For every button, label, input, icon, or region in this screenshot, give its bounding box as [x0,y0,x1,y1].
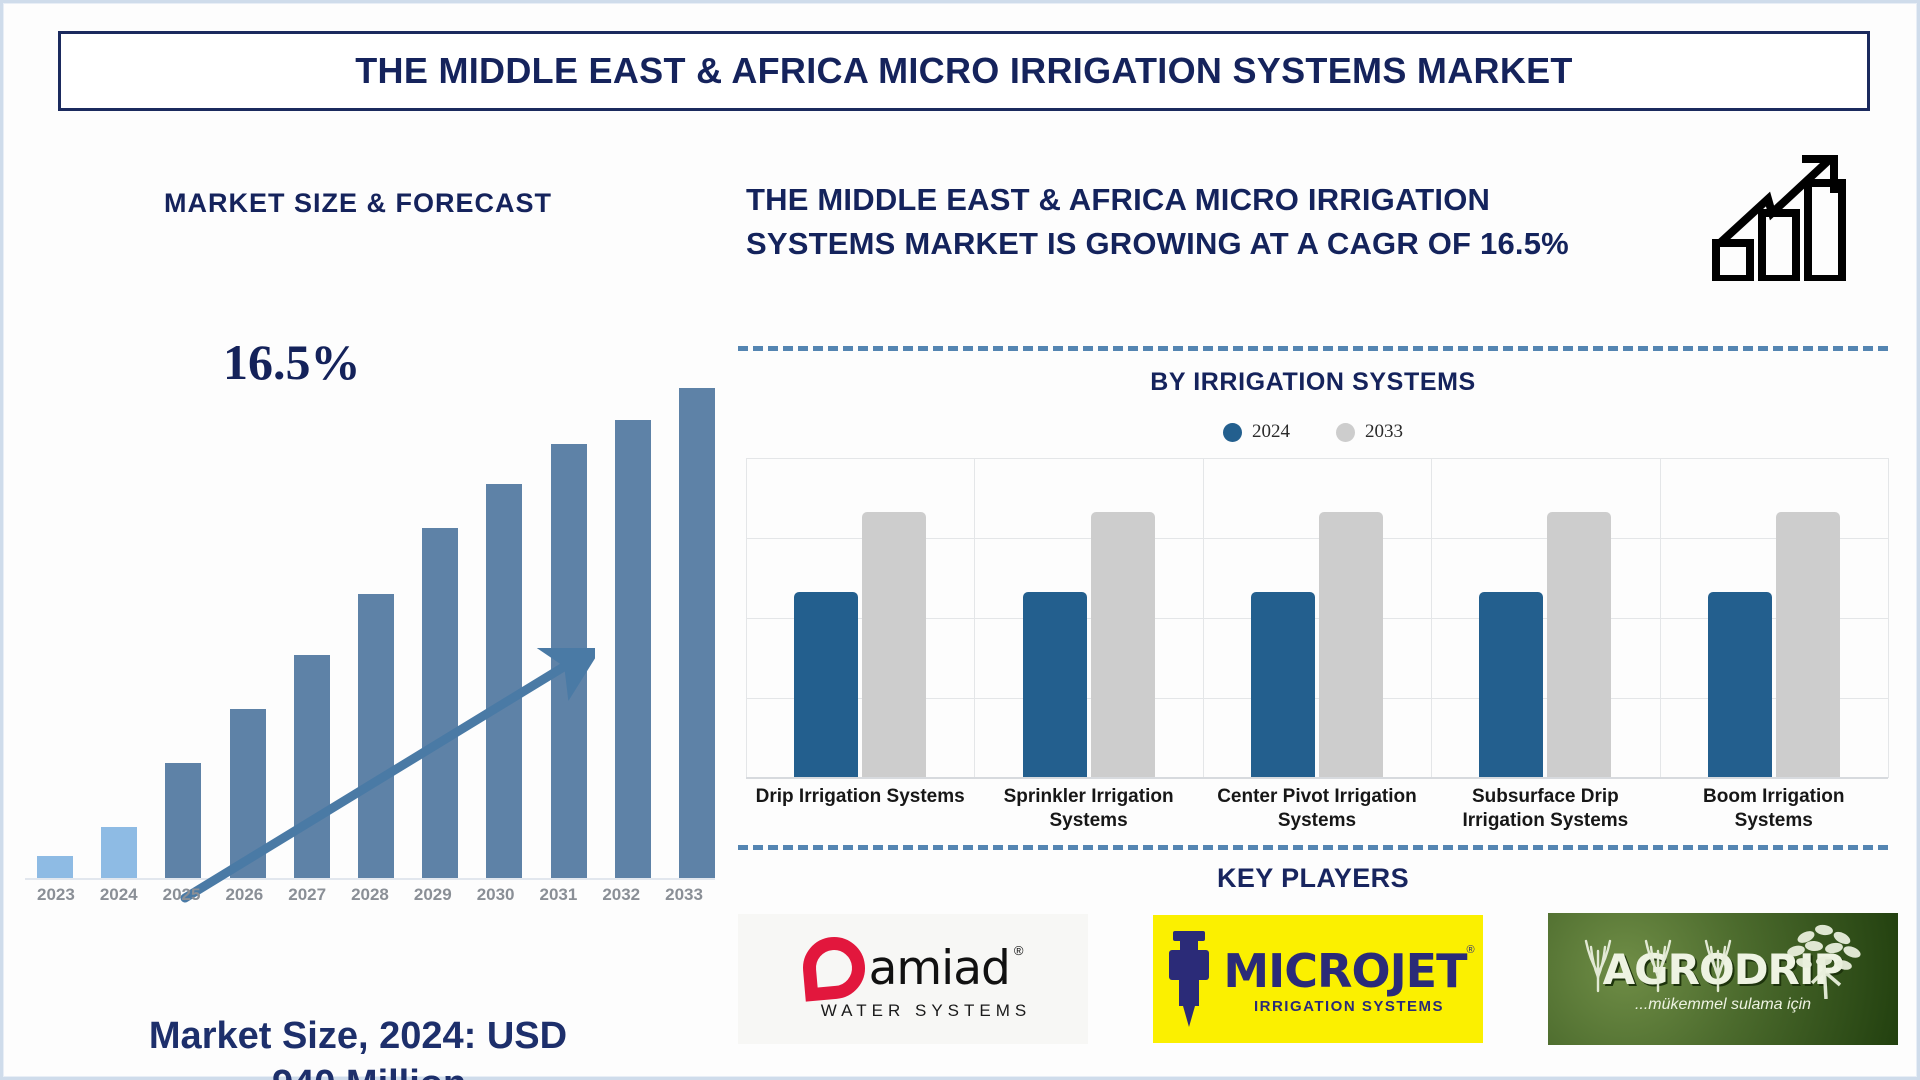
bar [422,528,458,878]
bar [679,388,715,878]
key-players-row: amiad ® WATER SYSTEMS MI [738,908,1898,1050]
gridline-vertical [1888,458,1889,778]
infographic-canvas: THE MIDDLE EAST & AFRICA MICRO IRRIGATIO… [0,0,1920,1080]
microjet-tagline: IRRIGATION SYSTEMS [1254,998,1444,1015]
amiad-tagline: WATER SYSTEMS [821,1001,1031,1021]
market-size-footer-line1: Market Size, 2024: USD [13,1013,703,1061]
chart-legend: 20242033 [738,421,1888,443]
legend-dot-icon [1336,423,1355,442]
category-label: Boom Irrigation Systems [1669,785,1879,833]
bar-group [1023,458,1155,778]
category-label: Subsurface Drip Irrigation Systems [1440,785,1650,833]
bar-2024 [1479,592,1543,778]
bar-2024 [1708,592,1772,778]
legend-item-2033[interactable]: 2033 [1336,421,1403,443]
segment-heading: BY IRRIGATION SYSTEMS [738,368,1888,397]
market-size-chart [25,373,715,878]
amiad-trademark: ® [1014,943,1024,958]
microjet-logo: MICROJET ® IRRIGATION SYSTEMS [1153,915,1483,1043]
market-size-bar-2032 [615,388,651,878]
market-size-bar-2024 [101,388,137,878]
page-title: THE MIDDLE EAST & AFRICA MICRO IRRIGATIO… [355,50,1572,92]
market-size-bar-2026 [230,388,266,878]
market-size-panel: MARKET SIZE & FORECAST 16.5% 20232024202… [3,133,713,1080]
year-label: 2023 [37,885,75,905]
segment-chart-baseline [746,777,1888,779]
bar [358,594,394,878]
agrodrip-logo: AGRODRIP ...mükemmel sulama için [1548,913,1898,1045]
bar-2024 [1023,592,1087,778]
segment-bar-groups [746,458,1888,778]
bar-2033 [1319,512,1383,778]
bar-group [794,458,926,778]
year-label: 2026 [225,885,263,905]
year-label: 2033 [665,885,703,905]
amiad-mark-icon [800,934,867,1001]
bar [101,827,137,878]
bar [486,484,522,878]
growth-arrow-bar-icon [1710,151,1860,281]
year-label: 2029 [414,885,452,905]
market-size-footer-line2: ~940 Million [13,1061,703,1080]
market-size-bar-2033 [679,388,715,878]
key-player-logo-amiad: amiad ® WATER SYSTEMS [738,910,1088,1048]
bar-2024 [1251,592,1315,778]
segment-panel: THE MIDDLE EAST & AFRICA MICRO IRRIGATIO… [728,133,1908,1080]
key-player-logo-agrodrip: AGRODRIP ...mükemmel sulama için [1548,910,1898,1048]
bar [37,856,73,878]
amiad-wordmark: amiad [869,941,1010,996]
bar-2033 [1091,512,1155,778]
agrodrip-sprouts-icon [1566,933,1776,995]
market-size-bar-2030 [486,388,522,878]
bar [551,444,587,878]
year-label: 2030 [477,885,515,905]
divider-top [738,346,1888,351]
year-label: 2024 [100,885,138,905]
microjet-wordmark: MICROJET [1223,944,1466,998]
legend-item-2024[interactable]: 2024 [1223,421,1290,443]
cagr-headline: THE MIDDLE EAST & AFRICA MICRO IRRIGATIO… [746,178,1626,266]
market-size-heading: MARKET SIZE & FORECAST [3,188,713,219]
market-size-bar-2028 [358,388,394,878]
bar-2033 [1547,512,1611,778]
key-players-heading: KEY PLAYERS [738,863,1888,894]
bar-group [1251,458,1383,778]
market-size-bar-2025 [165,388,201,878]
market-size-bar-2029 [422,388,458,878]
year-label: 2027 [288,885,326,905]
bar-2033 [862,512,926,778]
bar-group [1479,458,1611,778]
microjet-emitter-icon [1167,931,1211,1027]
divider-bottom [738,845,1888,850]
amiad-logo: amiad ® WATER SYSTEMS [738,914,1088,1044]
year-label: 2025 [163,885,201,905]
key-player-logo-microjet: MICROJET ® IRRIGATION SYSTEMS [1143,910,1493,1048]
legend-label: 2024 [1252,421,1290,443]
category-label: Drip Irrigation Systems [755,785,965,833]
legend-dot-icon [1223,423,1242,442]
year-label: 2028 [351,885,389,905]
agrodrip-tree-icon [1776,921,1872,999]
market-size-year-labels: 2023202420252026202720282029203020312032… [37,885,703,905]
category-label: Sprinkler Irrigation Systems [984,785,1194,833]
bar-2024 [794,592,858,778]
segment-category-labels: Drip Irrigation SystemsSprinkler Irrigat… [746,785,1888,833]
legend-label: 2033 [1365,421,1403,443]
title-banner: THE MIDDLE EAST & AFRICA MICRO IRRIGATIO… [58,31,1870,111]
microjet-trademark: ® [1466,944,1474,956]
market-size-axis [25,878,715,880]
segment-chart [746,458,1888,778]
bar [294,655,330,878]
market-size-bars [37,388,715,878]
bar [165,763,201,878]
category-label: Center Pivot Irrigation Systems [1212,785,1422,833]
market-size-bar-2023 [37,388,73,878]
market-size-bar-2031 [551,388,587,878]
bar [615,420,651,878]
bar [230,709,266,878]
year-label: 2032 [602,885,640,905]
market-size-footer: Market Size, 2024: USD ~940 Million [13,1013,703,1080]
year-label: 2031 [540,885,578,905]
bar-group [1708,458,1840,778]
bar-2033 [1776,512,1840,778]
market-size-bar-2027 [294,388,330,878]
